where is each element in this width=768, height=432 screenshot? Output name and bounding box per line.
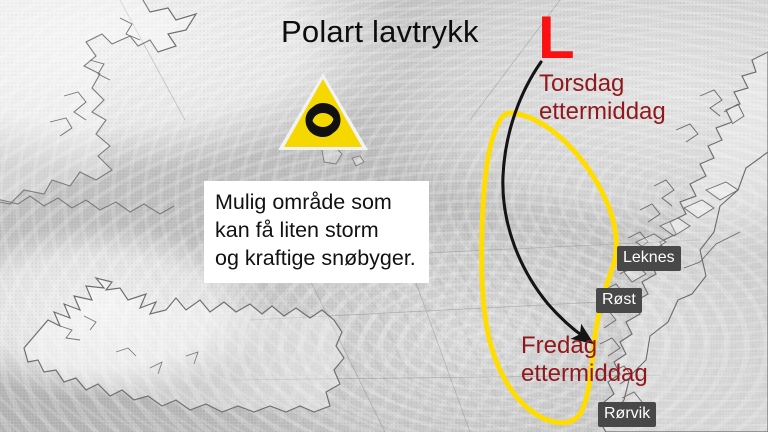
label-torsdag: Torsdag ettermiddag: [539, 70, 666, 126]
weather-map-screenshot: Polart lavtrykk Mulig område som kan få …: [0, 0, 768, 432]
label-fredag-line-2: ettermiddag: [521, 360, 648, 388]
label-torsdag-line-2: ettermiddag: [539, 98, 666, 126]
info-box-line-3: og kraftige snøbyger.: [215, 245, 416, 273]
page-title: Polart lavtrykk: [281, 14, 479, 50]
info-box-line-1: Mulig område som: [215, 189, 416, 217]
cyclone-warning-triangle-icon: [275, 70, 371, 154]
info-box-line-2: kan få liten storm: [215, 217, 416, 245]
low-pressure-marker: L: [538, 9, 575, 67]
label-torsdag-line-1: Torsdag: [539, 70, 666, 98]
place-label-rost: Røst: [596, 288, 642, 313]
place-label-leknes: Leknes: [617, 246, 681, 271]
label-fredag: Fredag ettermiddag: [521, 332, 648, 388]
info-box: Mulig område som kan få liten storm og k…: [204, 181, 429, 283]
label-fredag-line-1: Fredag: [521, 332, 648, 360]
place-label-rorvik: Rørvik: [598, 402, 656, 427]
